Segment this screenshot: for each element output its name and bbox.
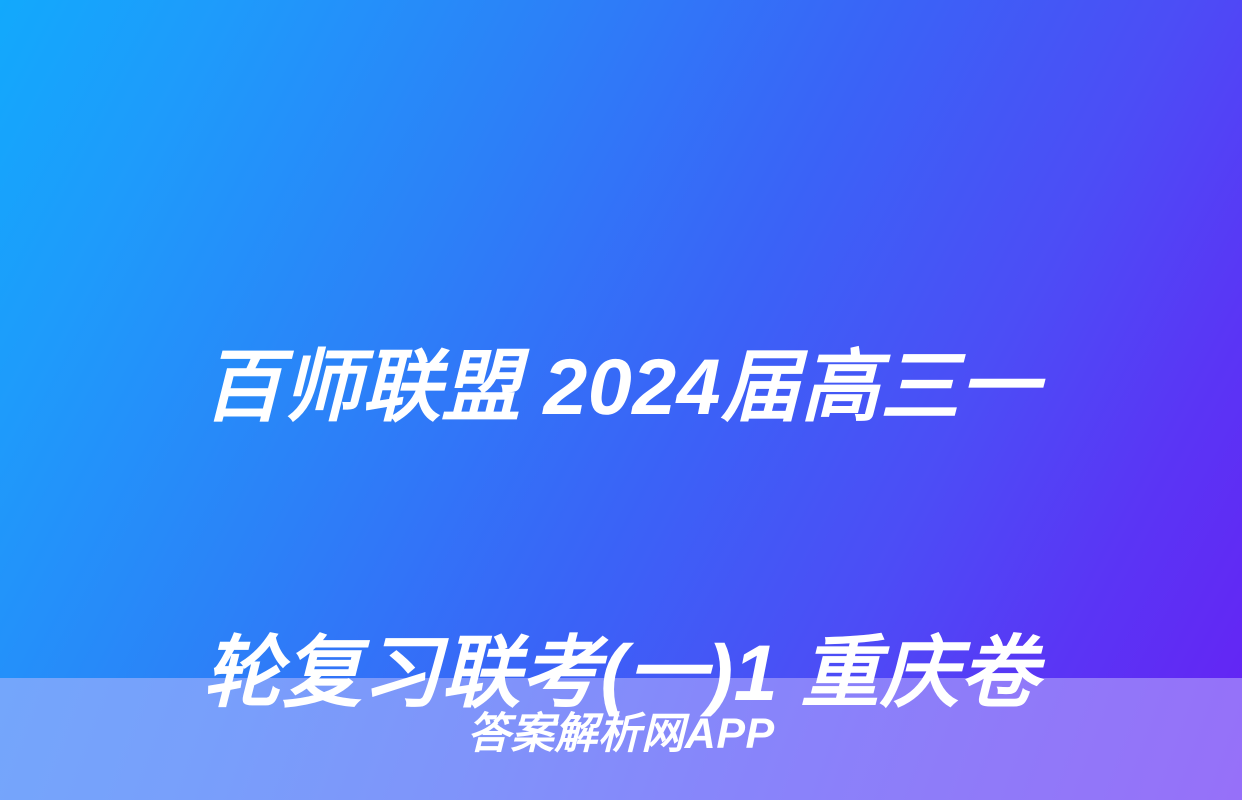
footer-watermark: 答案解析网APP: [0, 706, 1242, 762]
page-title-line-1: 百师联盟 2024届高三一: [60, 315, 1182, 458]
poster-canvas: 百师联盟 2024届高三一 轮复习联考(一)1 重庆卷 生物答案 答案解析网AP…: [0, 0, 1242, 800]
